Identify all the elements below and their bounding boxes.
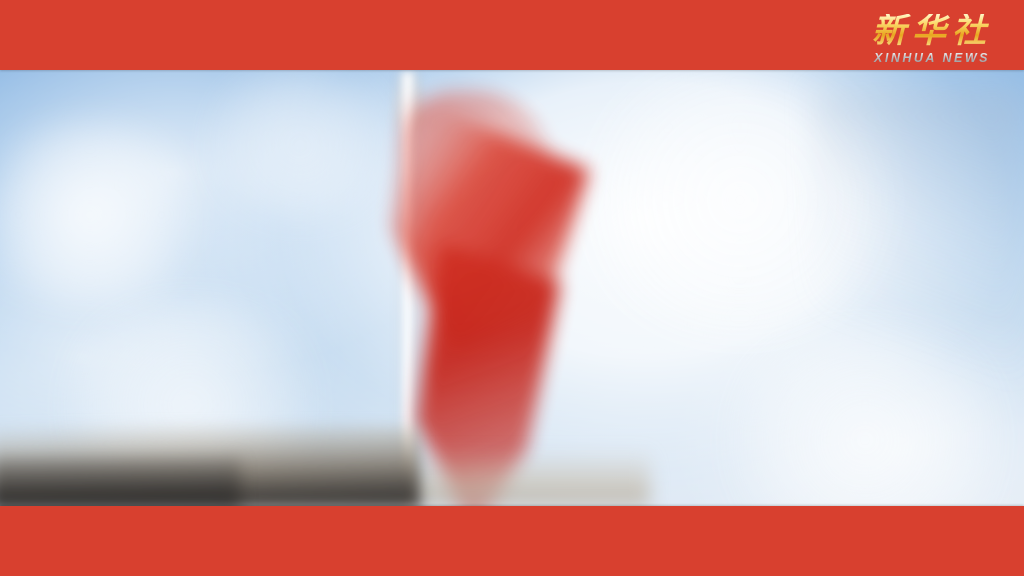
logo-english-text: XINHUA NEWS	[870, 52, 994, 65]
video-frame: 新华社 XINHUA NEWS 坚守党校初心，就必须始终坚持从严治校、 质量立校…	[0, 0, 1024, 576]
quote-line: 党性锻炼“大熔炉”、全面从严治党“风向标”	[52, 311, 972, 380]
logo-chinese-text: 新华社	[870, 14, 994, 48]
quote-line: 坚守党校初心，就必须始终坚持从严治校、	[52, 104, 972, 173]
quote-block: 坚守党校初心，就必须始终坚持从严治校、 质量立校，遵循最严格的政治标准、学术标准…	[0, 104, 1024, 449]
xinhua-news-logo: 新华社 XINHUA NEWS	[870, 14, 994, 65]
bottom-red-band	[0, 506, 1024, 576]
ground-structure-dark	[0, 458, 240, 508]
quote-line: 质量立校，遵循最严格的政治标准、学术标准、	[52, 173, 972, 242]
quote-line: 教学标准、管理标准，发挥不正之风“净化器”、	[52, 242, 972, 311]
quote-line: 的作用。	[52, 380, 972, 449]
